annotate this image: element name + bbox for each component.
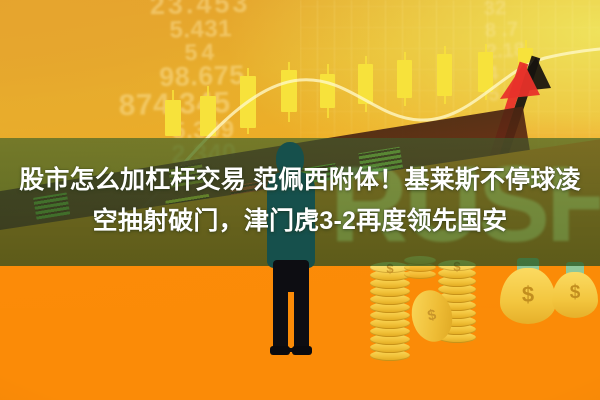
bag-dollar-symbol: $	[552, 282, 598, 304]
headline-line-2: 空抽射破门，津门虎3-2再度领先国安	[0, 201, 600, 242]
silhouette-shoe-right	[292, 346, 312, 355]
news-thumbnail-image: 23.453 5.431 54 98.675 874.345 5.309 2.3…	[0, 0, 600, 400]
silhouette-leg-gap	[288, 292, 294, 348]
headline-line-1: 股市怎么加杠杆交易 范佩西附体！基莱斯不停球凌	[19, 166, 581, 194]
bag-dollar-symbol: $	[500, 282, 556, 308]
silhouette-shoe-left	[270, 346, 290, 355]
headline-text: 股市怎么加杠杆交易 范佩西附体！基莱斯不停球凌 空抽射破门，津门虎3-2再度领先…	[0, 160, 600, 242]
coin-dollar-symbol: $	[411, 303, 454, 328]
